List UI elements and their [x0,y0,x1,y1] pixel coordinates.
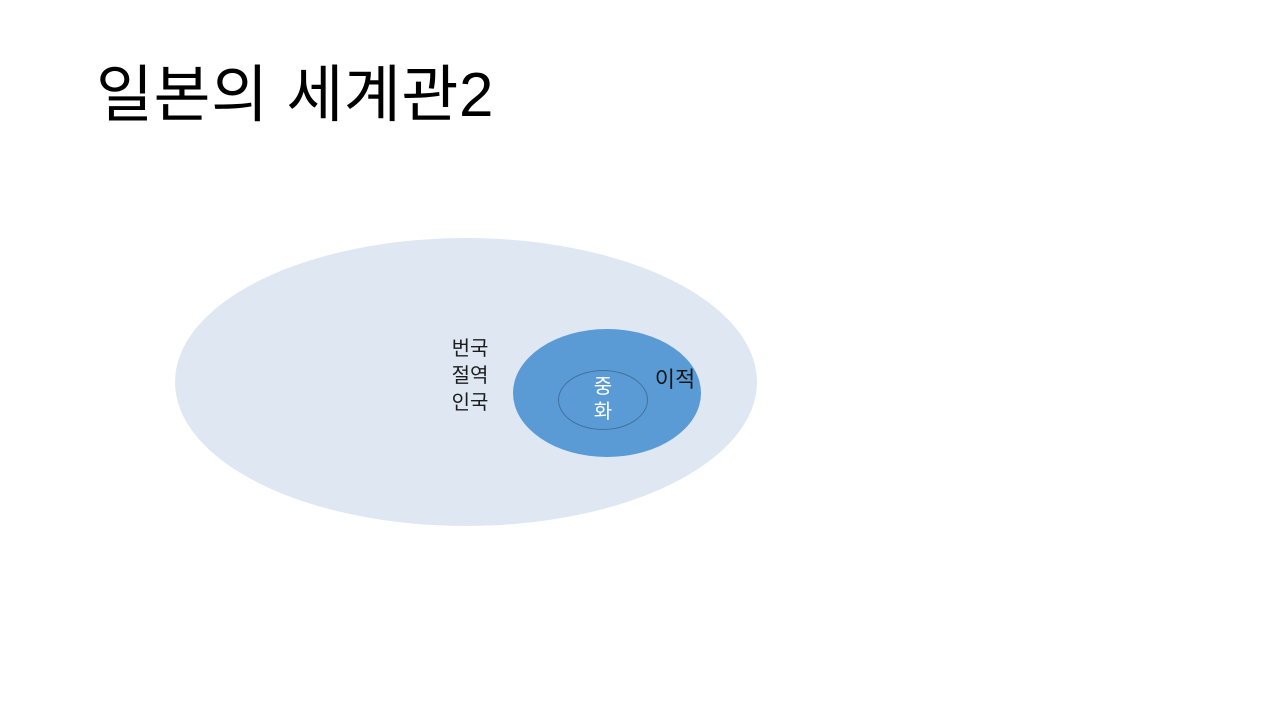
ellipse-outer-label: 번국 절역 인국 [430,336,510,417]
ellipse-middle-label: 이적 [643,365,707,395]
page-title: 일본의 세계관2 [96,52,996,142]
ellipse-inner-label: 중 화 [558,370,648,430]
ellipse-outer-label-line-1: 번국 [430,336,510,363]
slide-canvas: 일본의 세계관2 번국 절역 인국 이적 중 화 [0,0,1280,720]
ellipse-outer-label-line-3: 인국 [430,390,510,417]
ellipse-outer-label-line-2: 절역 [430,363,510,390]
sinocentric-worldview-diagram: 번국 절역 인국 이적 중 화 [175,238,757,526]
ellipse-inner-label-line-2: 화 [594,400,612,425]
ellipse-inner-label-line-1: 중 [594,375,612,400]
